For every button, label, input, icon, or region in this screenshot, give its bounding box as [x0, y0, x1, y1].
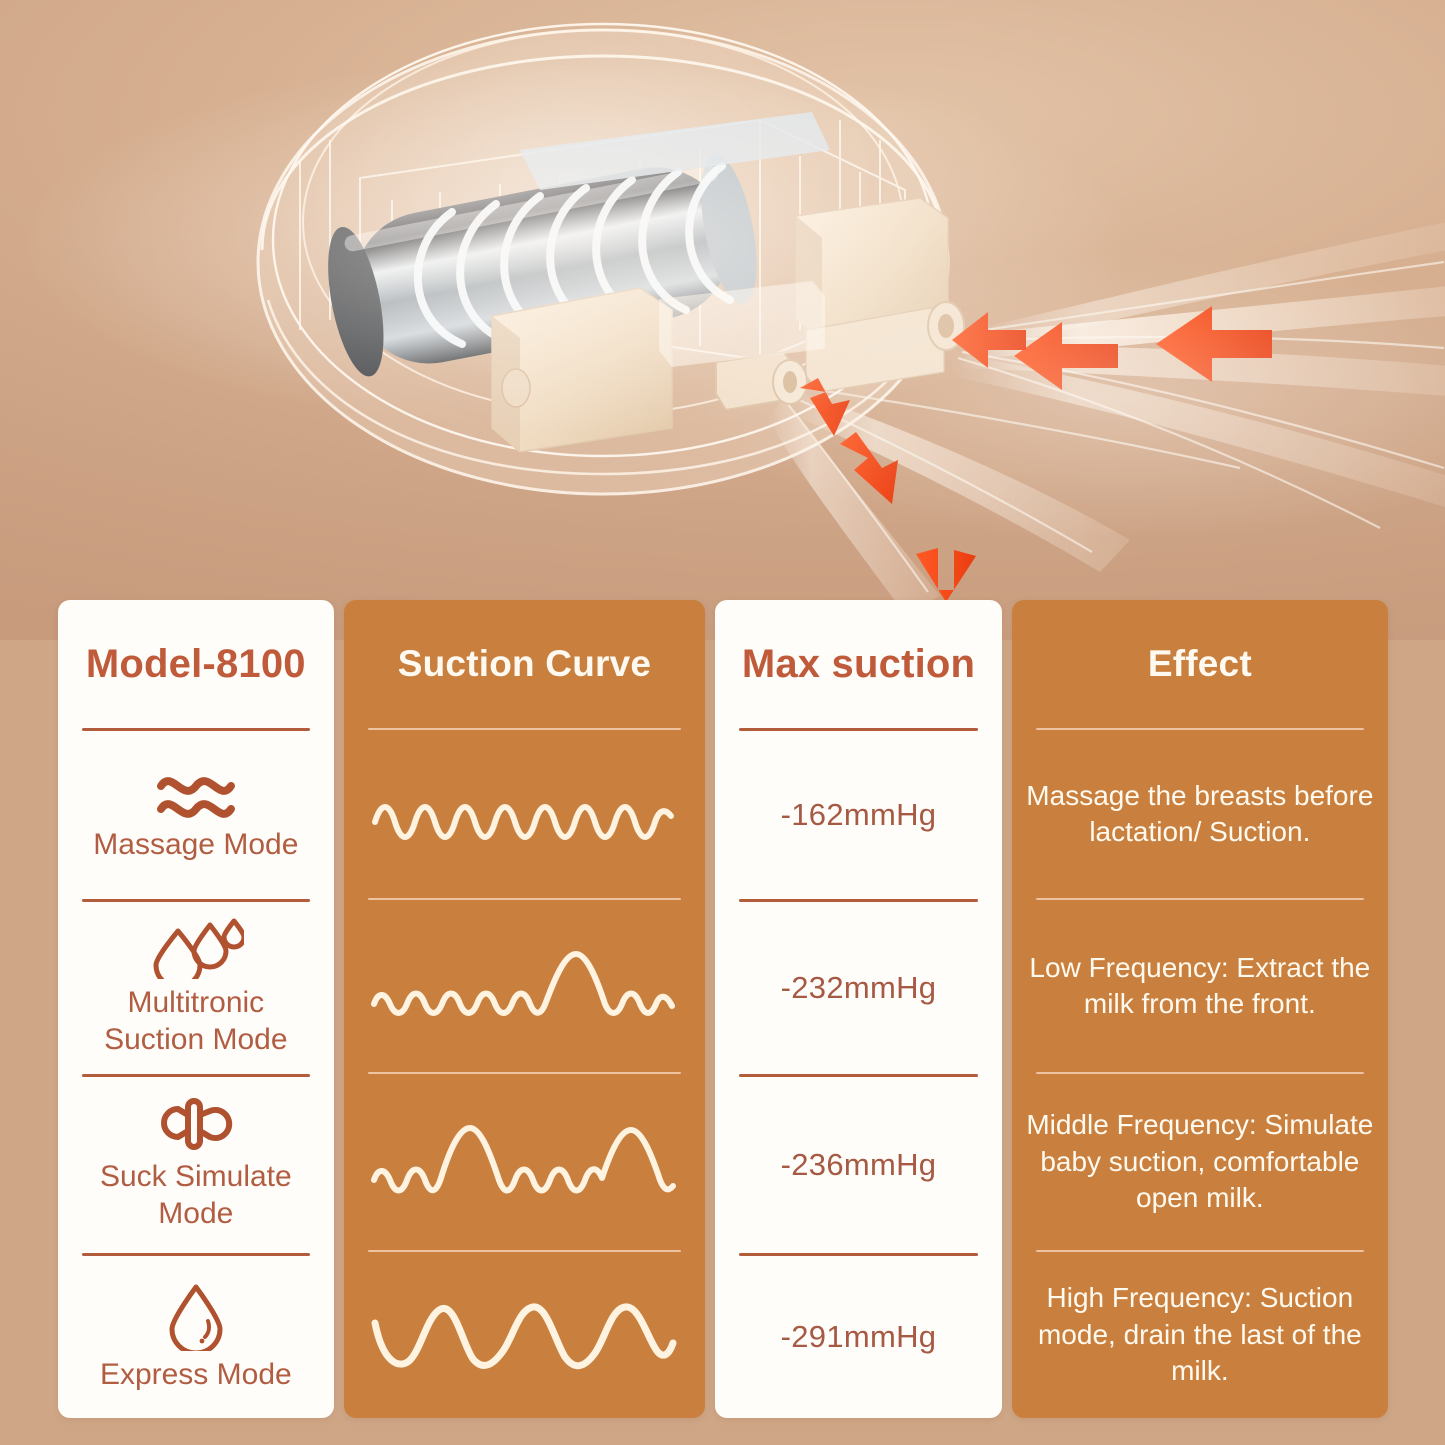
- mode-cell-suck-simulate: Suck SimulateMode: [58, 1077, 334, 1253]
- column-header-effect: Effect: [1012, 600, 1388, 728]
- column-header-mode: Model-8100: [58, 600, 334, 728]
- effect-cell-suck-simulate: Middle Frequency: Simulate baby suction,…: [1012, 1074, 1388, 1250]
- max-suction-value: -232mmHg: [781, 970, 937, 1006]
- column-header-max: Max suction: [715, 600, 1001, 728]
- column-header-curve: Suction Curve: [344, 600, 706, 728]
- droplet-icon: [164, 1281, 228, 1351]
- max-cell-massage: -162mmHg: [715, 731, 1001, 899]
- curve-cell-express: [344, 1252, 706, 1418]
- hero-light-overlay: [0, 0, 1445, 640]
- max-suction-value: -291mmHg: [781, 1319, 937, 1355]
- curve-one-tall-peak: [369, 942, 679, 1030]
- curve-large-sine: [369, 1289, 679, 1381]
- effect-text: High Frequency: Suction mode, drain the …: [1026, 1280, 1374, 1389]
- curve-cell-multitronic: [344, 900, 706, 1072]
- effect-text: Middle Frequency: Simulate baby suction,…: [1026, 1107, 1374, 1216]
- column-max-suction: Max suction -162mmHg -232mmHg -236mmHg -…: [715, 600, 1001, 1418]
- max-suction-value: -236mmHg: [781, 1147, 937, 1183]
- infographic-page: Model-8100 Massage Mode: [0, 0, 1445, 1445]
- column-effect: Effect Massage the breasts before lactat…: [1012, 600, 1388, 1418]
- mode-cell-multitronic: MultitronicSuction Mode: [58, 902, 334, 1074]
- effect-cell-massage: Massage the breasts before lactation/ Su…: [1012, 730, 1388, 898]
- mode-label: MultitronicSuction Mode: [104, 985, 287, 1058]
- max-suction-value: -162mmHg: [781, 797, 937, 833]
- mode-cell-express: Express Mode: [58, 1256, 334, 1418]
- effect-cell-multitronic: Low Frequency: Extract the milk from the…: [1012, 900, 1388, 1072]
- wave-icon: [153, 767, 239, 821]
- pacifier-icon: [148, 1097, 244, 1153]
- effect-cell-express: High Frequency: Suction mode, drain the …: [1012, 1252, 1388, 1418]
- curve-cell-suck-simulate: [344, 1074, 706, 1250]
- mode-cell-massage: Massage Mode: [58, 731, 334, 899]
- mode-label: Suck SimulateMode: [100, 1159, 292, 1232]
- comparison-table: Model-8100 Massage Mode: [58, 600, 1388, 1418]
- max-cell-multitronic: -232mmHg: [715, 902, 1001, 1074]
- max-cell-suck-simulate: -236mmHg: [715, 1077, 1001, 1253]
- mode-label: Express Mode: [100, 1357, 292, 1394]
- column-mode: Model-8100 Massage Mode: [58, 600, 334, 1418]
- product-hero-image: [0, 0, 1445, 640]
- three-droplets-icon: [148, 917, 244, 979]
- mode-label: Massage Mode: [93, 827, 298, 864]
- curve-cell-massage: [344, 730, 706, 898]
- effect-text: Low Frequency: Extract the milk from the…: [1026, 950, 1374, 1023]
- column-suction-curve: Suction Curve: [344, 600, 706, 1418]
- curve-two-tall-peaks: [369, 1116, 679, 1208]
- max-cell-express: -291mmHg: [715, 1256, 1001, 1418]
- curve-uniform-small-wave: [369, 784, 679, 844]
- effect-text: Massage the breasts before lactation/ Su…: [1026, 778, 1374, 851]
